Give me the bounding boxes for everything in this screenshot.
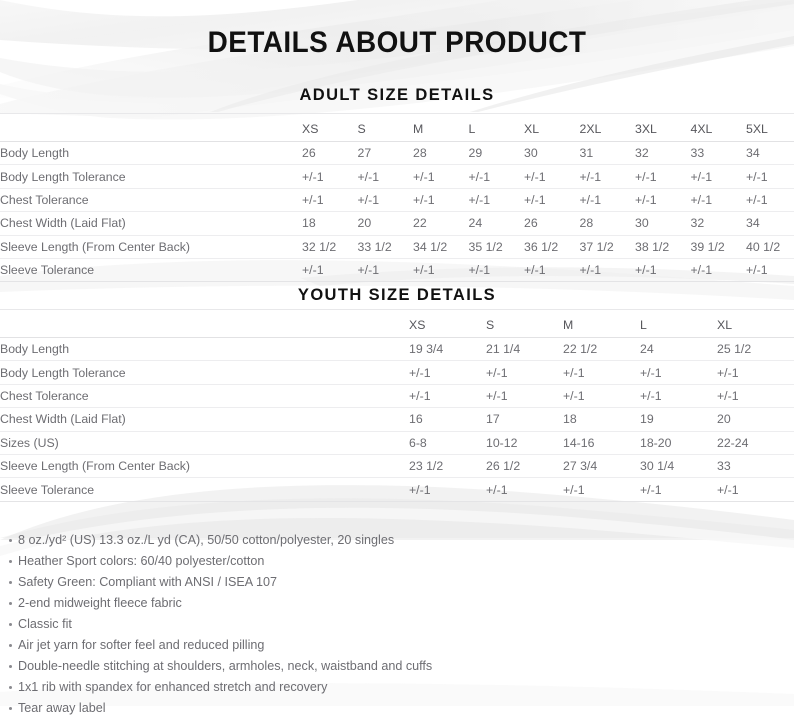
measurement-cell: 19 3/4 bbox=[409, 338, 486, 361]
youth-section-title: YOUTH SIZE DETAILS bbox=[0, 286, 794, 304]
adult-size-table-wrap: XSSMLXL2XL3XL4XL5XL Body Length262728293… bbox=[0, 113, 794, 282]
measurement-cell: 27 bbox=[358, 142, 414, 165]
youth-column-header: XL bbox=[717, 310, 794, 338]
product-features-list: 8 oz./yd² (US) 13.3 oz./L yd (CA), 50/50… bbox=[0, 530, 794, 719]
measurement-cell: +/-1 bbox=[486, 478, 563, 501]
measurement-cell: 28 bbox=[580, 212, 636, 235]
table-row: Body Length Tolerance+/-1+/-1+/-1+/-1+/-… bbox=[0, 361, 794, 384]
measurement-cell: 18-20 bbox=[640, 431, 717, 454]
adult-column-header: XL bbox=[524, 114, 580, 142]
measurement-cell: 39 1/2 bbox=[691, 235, 747, 258]
table-row: Body Length Tolerance+/-1+/-1+/-1+/-1+/-… bbox=[0, 165, 794, 188]
measurement-cell: 22-24 bbox=[717, 431, 794, 454]
feature-list-item: Double-needle stitching at shoulders, ar… bbox=[0, 656, 794, 677]
measurement-cell: +/-1 bbox=[580, 165, 636, 188]
measurement-cell: +/-1 bbox=[691, 165, 747, 188]
measurement-cell: +/-1 bbox=[486, 361, 563, 384]
measurement-cell: 24 bbox=[640, 338, 717, 361]
measurement-cell: +/-1 bbox=[717, 361, 794, 384]
youth-column-header: XS bbox=[409, 310, 486, 338]
measurement-cell: +/-1 bbox=[640, 384, 717, 407]
table-row: Chest Tolerance+/-1+/-1+/-1+/-1+/-1+/-1+… bbox=[0, 188, 794, 211]
youth-table-head: XSSMLXL bbox=[0, 310, 794, 338]
measurement-cell: 32 bbox=[635, 142, 691, 165]
measurement-cell: 34 1/2 bbox=[413, 235, 469, 258]
measurement-cell: +/-1 bbox=[746, 165, 794, 188]
feature-list-item: Air jet yarn for softer feel and reduced… bbox=[0, 635, 794, 656]
measurement-cell: 30 1/4 bbox=[640, 454, 717, 477]
measurement-cell: +/-1 bbox=[746, 258, 794, 281]
measurement-cell: +/-1 bbox=[358, 258, 414, 281]
measurement-cell: 23 1/2 bbox=[409, 454, 486, 477]
row-label: Body Length Tolerance bbox=[0, 165, 302, 188]
adult-column-header: 2XL bbox=[580, 114, 636, 142]
feature-list-item: Heather Sport colors: 60/40 polyester/co… bbox=[0, 551, 794, 572]
measurement-cell: +/-1 bbox=[635, 165, 691, 188]
measurement-cell: 34 bbox=[746, 212, 794, 235]
measurement-cell: 17 bbox=[486, 408, 563, 431]
measurement-cell: +/-1 bbox=[469, 188, 525, 211]
measurement-cell: +/-1 bbox=[717, 478, 794, 501]
measurement-cell: +/-1 bbox=[640, 478, 717, 501]
measurement-cell: 16 bbox=[409, 408, 486, 431]
measurement-cell: 28 bbox=[413, 142, 469, 165]
adult-table-body: Body Length262728293031323334Body Length… bbox=[0, 142, 794, 282]
measurement-cell: 30 bbox=[524, 142, 580, 165]
measurement-cell: 40 1/2 bbox=[746, 235, 794, 258]
table-row: Sleeve Tolerance+/-1+/-1+/-1+/-1+/-1 bbox=[0, 478, 794, 501]
measurement-cell: +/-1 bbox=[358, 165, 414, 188]
measurement-cell: 26 1/2 bbox=[486, 454, 563, 477]
measurement-cell: +/-1 bbox=[409, 384, 486, 407]
adult-section-title-wrap: ADULT SIZE DETAILS bbox=[0, 59, 794, 113]
row-label: Sleeve Tolerance bbox=[0, 478, 409, 501]
youth-size-table-wrap: XSSMLXL Body Length19 3/421 1/422 1/2242… bbox=[0, 309, 794, 502]
measurement-cell: 18 bbox=[563, 408, 640, 431]
adult-row-label-header bbox=[0, 114, 302, 142]
row-label: Sleeve Length (From Center Back) bbox=[0, 454, 409, 477]
measurement-cell: +/-1 bbox=[358, 188, 414, 211]
adult-column-header: M bbox=[413, 114, 469, 142]
measurement-cell: +/-1 bbox=[563, 384, 640, 407]
page-title: DETAILS ABOUT PRODUCT bbox=[28, 0, 766, 59]
measurement-cell: 35 1/2 bbox=[469, 235, 525, 258]
measurement-cell: 21 1/4 bbox=[486, 338, 563, 361]
table-row: Sleeve Length (From Center Back)23 1/226… bbox=[0, 454, 794, 477]
feature-list-item: 2-end midweight fleece fabric bbox=[0, 593, 794, 614]
row-label: Chest Width (Laid Flat) bbox=[0, 408, 409, 431]
measurement-cell: +/-1 bbox=[640, 361, 717, 384]
measurement-cell: 25 1/2 bbox=[717, 338, 794, 361]
measurement-cell: +/-1 bbox=[302, 188, 358, 211]
measurement-cell: 19 bbox=[640, 408, 717, 431]
measurement-cell: 30 bbox=[635, 212, 691, 235]
measurement-cell: 26 bbox=[302, 142, 358, 165]
measurement-cell: 38 1/2 bbox=[635, 235, 691, 258]
row-label: Body Length bbox=[0, 338, 409, 361]
product-details-page: DETAILS ABOUT PRODUCT ADULT SIZE DETAILS… bbox=[0, 0, 794, 706]
table-row: Chest Width (Laid Flat)1617181920 bbox=[0, 408, 794, 431]
youth-column-header: S bbox=[486, 310, 563, 338]
row-label: Chest Tolerance bbox=[0, 188, 302, 211]
table-row: Body Length19 3/421 1/422 1/22425 1/2 bbox=[0, 338, 794, 361]
feature-list-item: 1x1 rib with spandex for enhanced stretc… bbox=[0, 677, 794, 698]
measurement-cell: 34 bbox=[746, 142, 794, 165]
youth-section-title-wrap: YOUTH SIZE DETAILS bbox=[0, 286, 794, 304]
adult-header-row: XSSMLXL2XL3XL4XL5XL bbox=[0, 114, 794, 142]
row-label: Body Length bbox=[0, 142, 302, 165]
table-row: Chest Tolerance+/-1+/-1+/-1+/-1+/-1 bbox=[0, 384, 794, 407]
measurement-cell: 31 bbox=[580, 142, 636, 165]
adult-table-head: XSSMLXL2XL3XL4XL5XL bbox=[0, 114, 794, 142]
measurement-cell: +/-1 bbox=[302, 258, 358, 281]
youth-table-body: Body Length19 3/421 1/422 1/22425 1/2Bod… bbox=[0, 338, 794, 502]
measurement-cell: 22 1/2 bbox=[563, 338, 640, 361]
measurement-cell: +/-1 bbox=[746, 188, 794, 211]
measurement-cell: +/-1 bbox=[524, 188, 580, 211]
adult-column-header: XS bbox=[302, 114, 358, 142]
measurement-cell: +/-1 bbox=[563, 478, 640, 501]
measurement-cell: +/-1 bbox=[524, 258, 580, 281]
measurement-cell: +/-1 bbox=[486, 384, 563, 407]
adult-size-table: XSSMLXL2XL3XL4XL5XL Body Length262728293… bbox=[0, 113, 794, 282]
row-label: Chest Tolerance bbox=[0, 384, 409, 407]
measurement-cell: 37 1/2 bbox=[580, 235, 636, 258]
measurement-cell: +/-1 bbox=[717, 384, 794, 407]
row-label: Sizes (US) bbox=[0, 431, 409, 454]
youth-header-row: XSSMLXL bbox=[0, 310, 794, 338]
measurement-cell: +/-1 bbox=[413, 165, 469, 188]
table-row: Chest Width (Laid Flat)18202224262830323… bbox=[0, 212, 794, 235]
table-row: Sleeve Length (From Center Back)32 1/233… bbox=[0, 235, 794, 258]
measurement-cell: +/-1 bbox=[580, 258, 636, 281]
row-label: Sleeve Tolerance bbox=[0, 258, 302, 281]
measurement-cell: 32 1/2 bbox=[302, 235, 358, 258]
measurement-cell: +/-1 bbox=[413, 188, 469, 211]
measurement-cell: 26 bbox=[524, 212, 580, 235]
adult-column-header: S bbox=[358, 114, 414, 142]
measurement-cell: 36 1/2 bbox=[524, 235, 580, 258]
table-row: Body Length262728293031323334 bbox=[0, 142, 794, 165]
measurement-cell: +/-1 bbox=[691, 258, 747, 281]
row-label: Chest Width (Laid Flat) bbox=[0, 212, 302, 235]
measurement-cell: +/-1 bbox=[524, 165, 580, 188]
measurement-cell: 10-12 bbox=[486, 431, 563, 454]
measurement-cell: 33 1/2 bbox=[358, 235, 414, 258]
measurement-cell: +/-1 bbox=[635, 258, 691, 281]
measurement-cell: +/-1 bbox=[469, 258, 525, 281]
measurement-cell: +/-1 bbox=[580, 188, 636, 211]
measurement-cell: 20 bbox=[717, 408, 794, 431]
feature-list-item: 8 oz./yd² (US) 13.3 oz./L yd (CA), 50/50… bbox=[0, 530, 794, 551]
youth-row-label-header bbox=[0, 310, 409, 338]
table-row: Sizes (US)6-810-1214-1618-2022-24 bbox=[0, 431, 794, 454]
measurement-cell: +/-1 bbox=[469, 165, 525, 188]
row-label: Sleeve Length (From Center Back) bbox=[0, 235, 302, 258]
measurement-cell: 20 bbox=[358, 212, 414, 235]
youth-column-header: L bbox=[640, 310, 717, 338]
adult-column-header: 4XL bbox=[691, 114, 747, 142]
measurement-cell: 22 bbox=[413, 212, 469, 235]
measurement-cell: 33 bbox=[691, 142, 747, 165]
measurement-cell: 6-8 bbox=[409, 431, 486, 454]
adult-column-header: L bbox=[469, 114, 525, 142]
table-row: Sleeve Tolerance+/-1+/-1+/-1+/-1+/-1+/-1… bbox=[0, 258, 794, 281]
youth-column-header: M bbox=[563, 310, 640, 338]
measurement-cell: +/-1 bbox=[409, 361, 486, 384]
measurement-cell: +/-1 bbox=[302, 165, 358, 188]
adult-section-title: ADULT SIZE DETAILS bbox=[0, 86, 794, 104]
measurement-cell: 24 bbox=[469, 212, 525, 235]
measurement-cell: 18 bbox=[302, 212, 358, 235]
feature-list-item: Safety Green: Compliant with ANSI / ISEA… bbox=[0, 572, 794, 593]
measurement-cell: 29 bbox=[469, 142, 525, 165]
measurement-cell: +/-1 bbox=[691, 188, 747, 211]
measurement-cell: 14-16 bbox=[563, 431, 640, 454]
feature-list-item: Tear away label bbox=[0, 698, 794, 719]
measurement-cell: +/-1 bbox=[635, 188, 691, 211]
measurement-cell: +/-1 bbox=[563, 361, 640, 384]
adult-column-header: 5XL bbox=[746, 114, 794, 142]
measurement-cell: +/-1 bbox=[409, 478, 486, 501]
measurement-cell: 27 3/4 bbox=[563, 454, 640, 477]
measurement-cell: 32 bbox=[691, 212, 747, 235]
youth-size-table: XSSMLXL Body Length19 3/421 1/422 1/2242… bbox=[0, 309, 794, 502]
feature-list-item: Classic fit bbox=[0, 614, 794, 635]
row-label: Body Length Tolerance bbox=[0, 361, 409, 384]
measurement-cell: +/-1 bbox=[413, 258, 469, 281]
adult-column-header: 3XL bbox=[635, 114, 691, 142]
measurement-cell: 33 bbox=[717, 454, 794, 477]
